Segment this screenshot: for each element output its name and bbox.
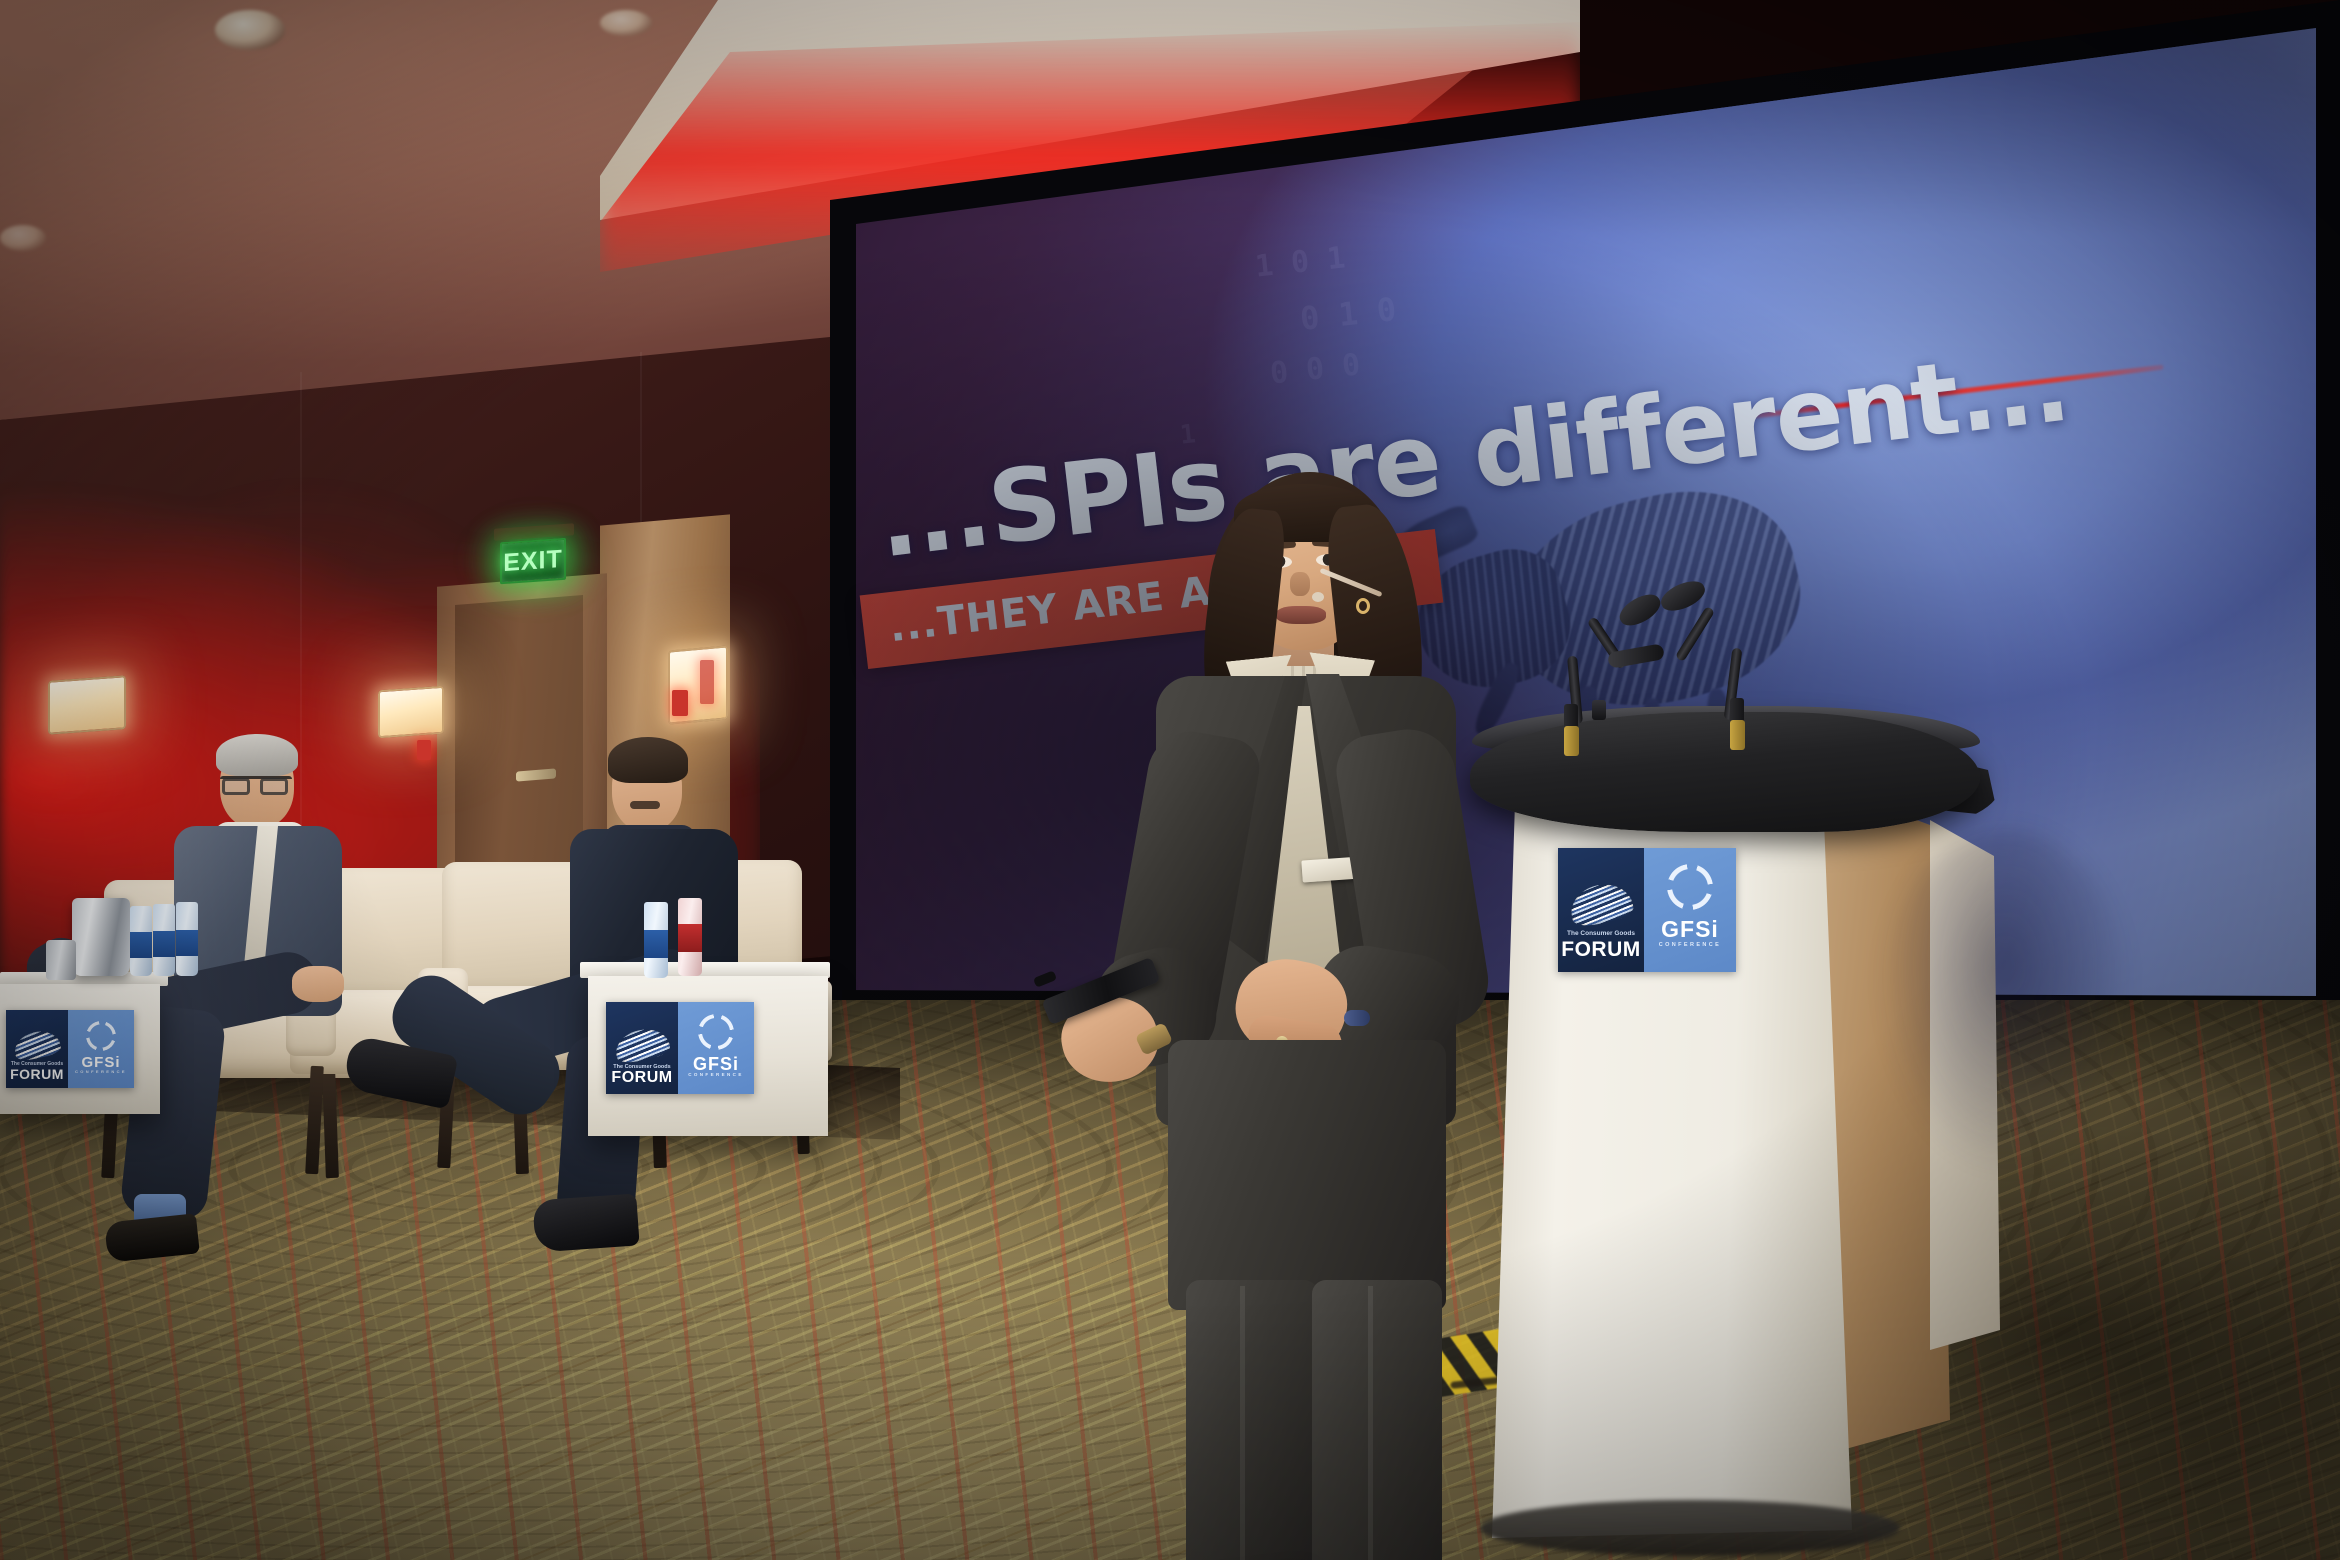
tumbler-glass[interactable] (46, 940, 76, 980)
gfsi-forum-logo: The Consumer Goods FORUM GFSi CONFERENCE (1558, 848, 1736, 972)
glasses-lens-icon (222, 778, 250, 795)
gfsi-ring-icon (86, 1021, 116, 1051)
earring-icon (1356, 598, 1370, 614)
gfsi-ring-icon (1667, 864, 1713, 910)
speaker-jacket-hem (1168, 1040, 1446, 1310)
ceiling-downlight-icon (0, 225, 46, 251)
ceiling-downlight-icon (215, 10, 285, 50)
water-bottle[interactable] (644, 902, 668, 978)
forum-swoosh-icon (612, 1024, 671, 1065)
gfsi-main-label: GFSi (1661, 918, 1719, 941)
gfsi-forum-logo: The Consumer Goods FORUM GFSi CONFERENCE (6, 1010, 134, 1088)
gfsi-forum-logo: The Consumer Goods FORUM GFSi CONFERENCE (606, 1002, 754, 1094)
forum-main-label: FORUM (1561, 939, 1641, 960)
forum-main-label: FORUM (611, 1070, 672, 1086)
bracelet-icon (1344, 1010, 1370, 1026)
panelist-hair (216, 734, 298, 776)
fire-alarm-icon (672, 690, 688, 716)
gfsi-main-label: GFSi (81, 1055, 120, 1070)
podium-control-knob[interactable] (1592, 700, 1606, 720)
forum-main-label: FORUM (10, 1067, 64, 1081)
ice-bucket[interactable] (72, 898, 130, 976)
podium-base (1480, 1500, 1900, 1556)
gfsi-sub-label: CONFERENCE (688, 1073, 744, 1078)
glasses-lens-icon (260, 778, 288, 795)
exit-sign-label: EXIT (503, 544, 563, 577)
water-bottle[interactable] (176, 902, 198, 976)
speaker-trouser-right (1312, 1280, 1442, 1560)
wall-sconce (48, 675, 126, 734)
speaker (1060, 480, 1480, 1540)
fire-alarm-icon (700, 660, 714, 704)
panelist-boot (532, 1193, 639, 1252)
speaker-trouser-left (1186, 1280, 1318, 1560)
speaker-nose (1290, 572, 1310, 596)
panelist-facial-hair (630, 801, 660, 809)
water-bottle[interactable] (130, 906, 152, 976)
forum-swoosh-icon (1567, 878, 1636, 928)
gfsi-ring-icon (698, 1014, 734, 1050)
ceiling-downlight-icon (600, 10, 652, 36)
soda-can-bottle[interactable] (678, 898, 702, 976)
forum-swoosh-icon (12, 1028, 62, 1063)
forum-sub-label: The Consumer Goods (1567, 931, 1635, 938)
podium-microphone[interactable] (1672, 582, 1842, 742)
water-bottle[interactable] (153, 904, 175, 976)
trouser-crease (1240, 1286, 1245, 1560)
panelist-hair (608, 737, 688, 783)
panelist-hand (292, 966, 344, 1002)
trouser-crease (1368, 1286, 1373, 1560)
gfsi-sub-label: CONFERENCE (1659, 943, 1722, 949)
headset-microphone-capsule-icon (1312, 592, 1324, 602)
gfsi-main-label: GFSi (693, 1055, 739, 1073)
conference-photo-scene: EXIT 1 0 1 0 1 0 0 0 0 1 0 ...SPIs are d… (0, 0, 2340, 1560)
exit-sign: EXIT (500, 538, 566, 585)
speaker-mouth (1276, 606, 1326, 624)
gfsi-sub-label: CONFERENCE (75, 1070, 127, 1074)
wall-sconce (378, 686, 444, 739)
